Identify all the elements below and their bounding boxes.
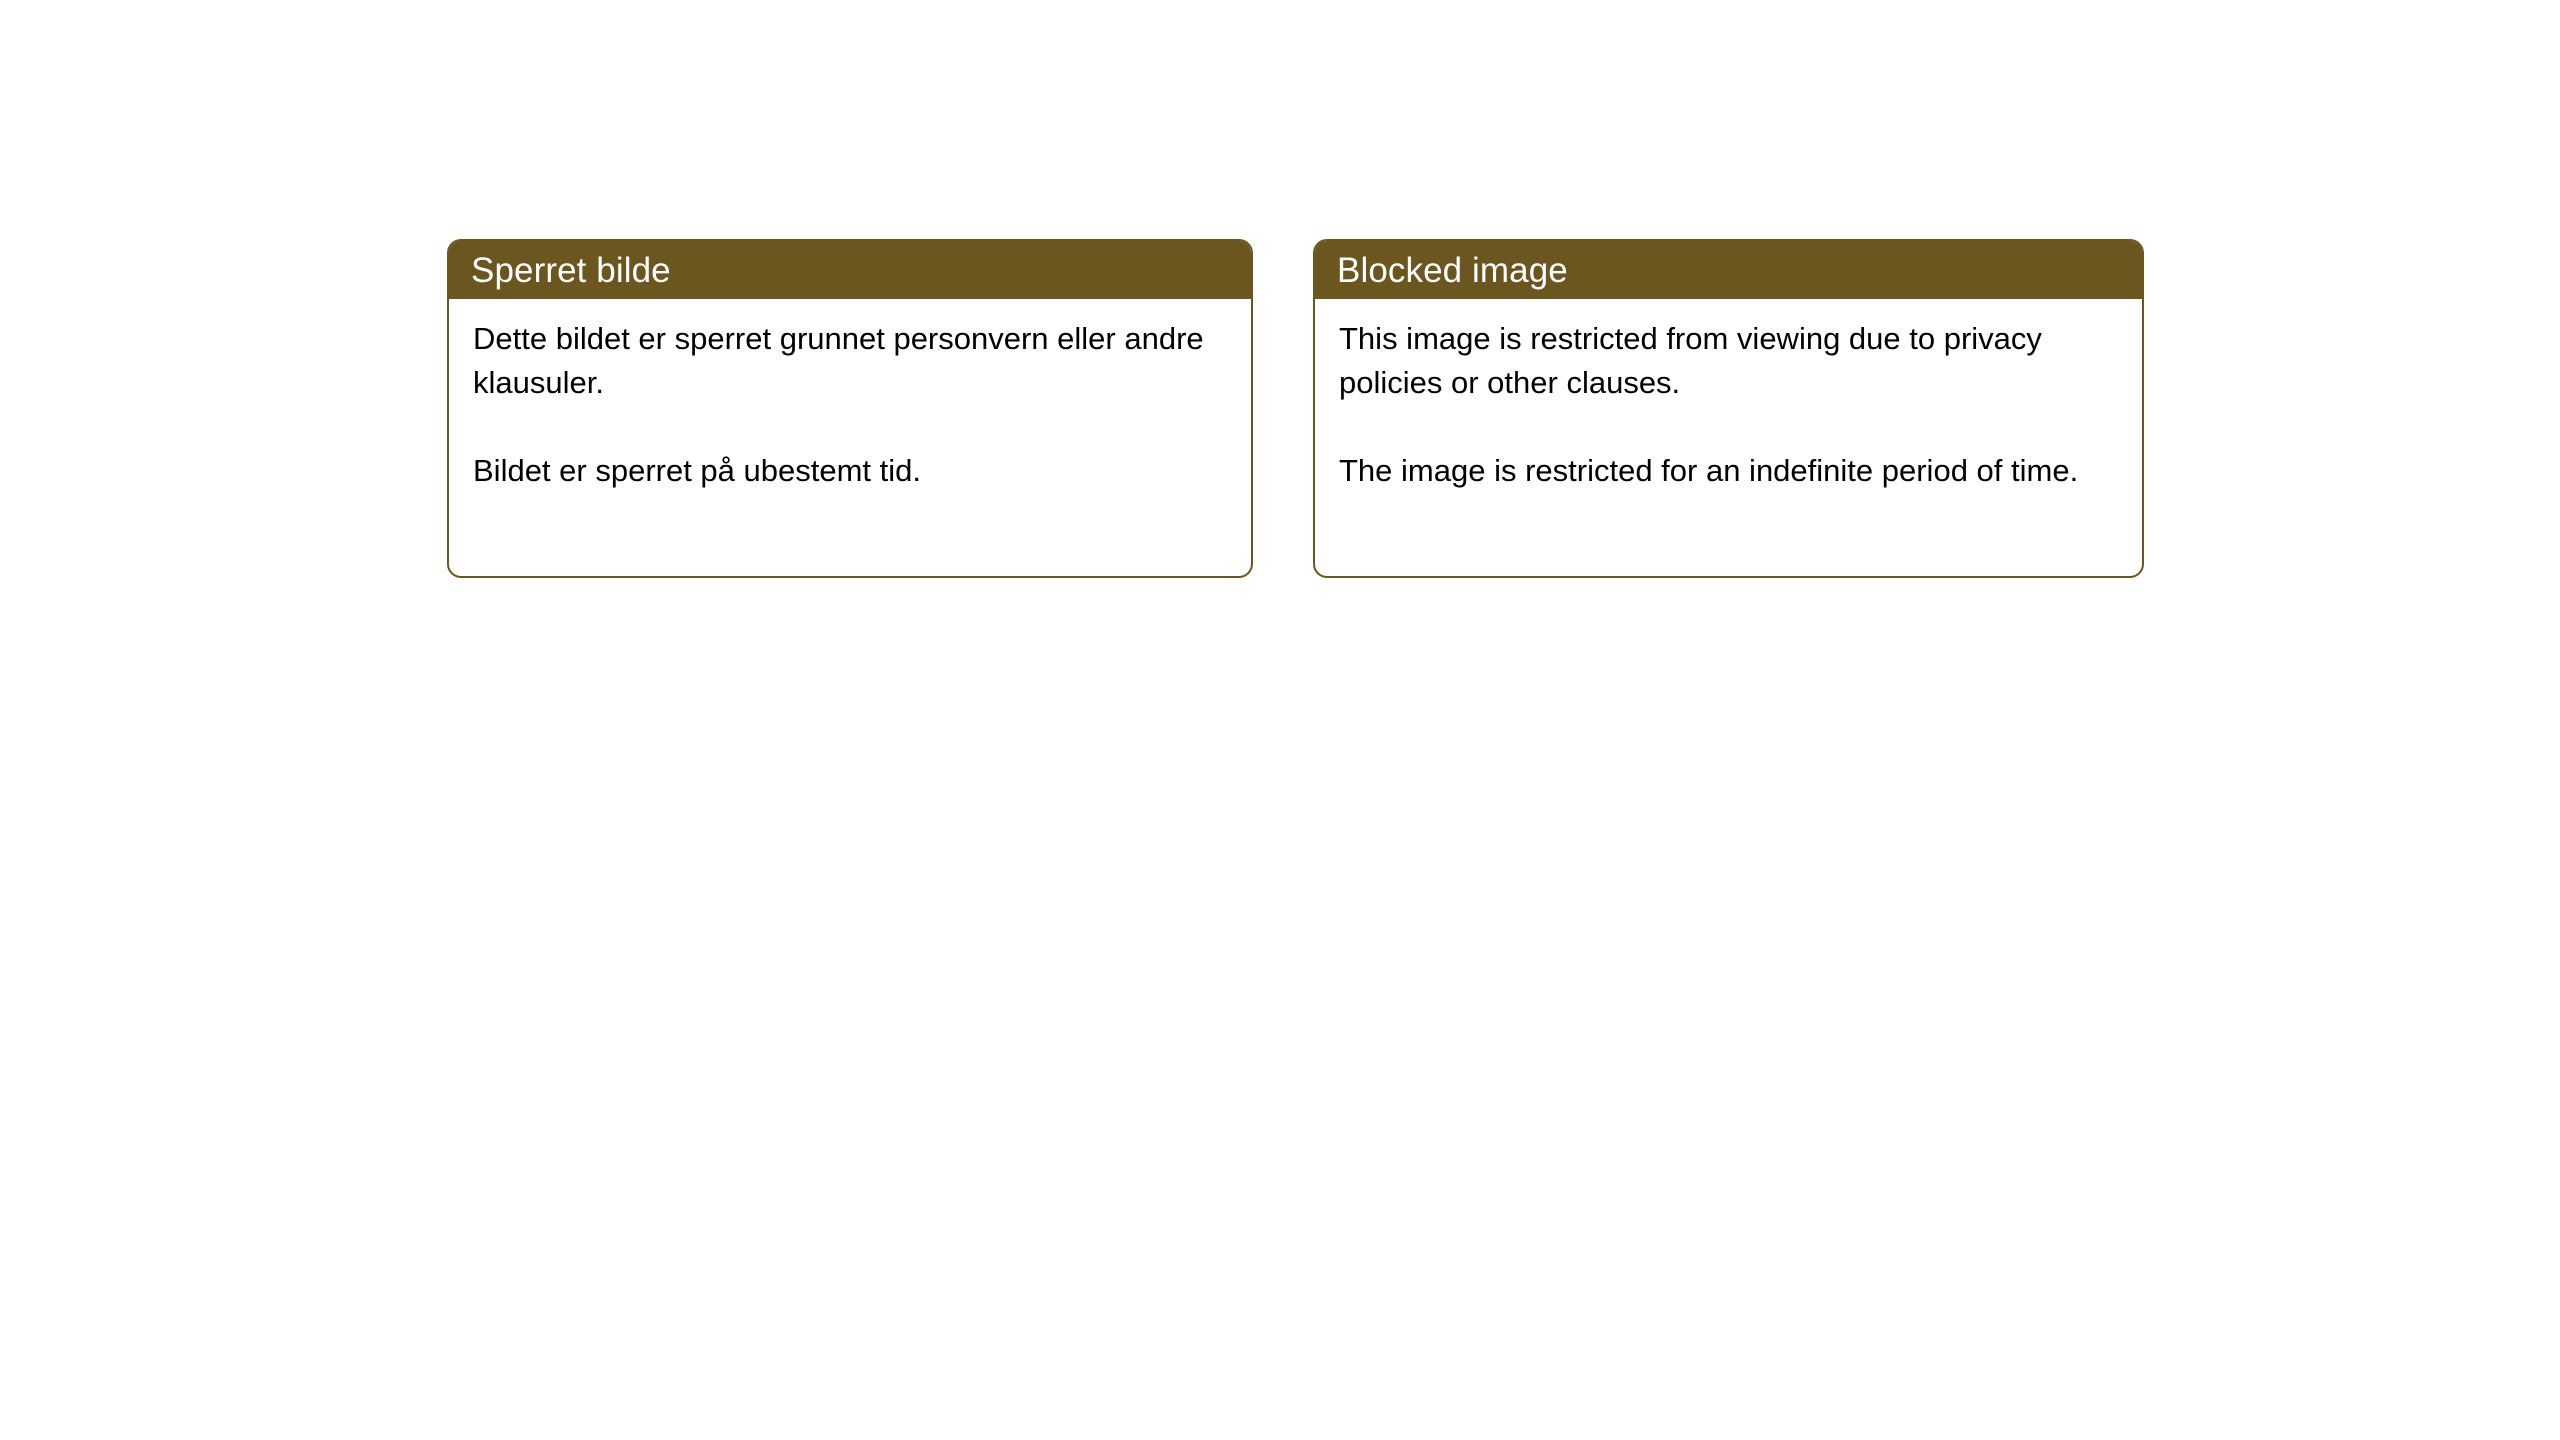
card-title-en: Blocked image xyxy=(1337,253,1568,288)
card-body-en: This image is restricted from viewing du… xyxy=(1315,299,2142,493)
card-paragraph-secondary-no: Bildet er sperret på ubestemt tid. xyxy=(473,449,1227,493)
notice-stage: Sperret bilde Dette bildet er sperret gr… xyxy=(0,0,2560,1440)
card-header-no: Sperret bilde xyxy=(449,241,1251,299)
card-body-no: Dette bildet er sperret grunnet personve… xyxy=(449,299,1251,493)
card-header-en: Blocked image xyxy=(1315,241,2142,299)
card-paragraph-secondary-en: The image is restricted for an indefinit… xyxy=(1339,449,2118,493)
card-paragraph-primary-en: This image is restricted from viewing du… xyxy=(1339,317,2118,405)
card-title-no: Sperret bilde xyxy=(471,253,671,288)
card-paragraph-primary-no: Dette bildet er sperret grunnet personve… xyxy=(473,317,1227,405)
blocked-image-notice-card-no: Sperret bilde Dette bildet er sperret gr… xyxy=(447,239,1253,578)
blocked-image-notice-card-en: Blocked image This image is restricted f… xyxy=(1313,239,2144,578)
